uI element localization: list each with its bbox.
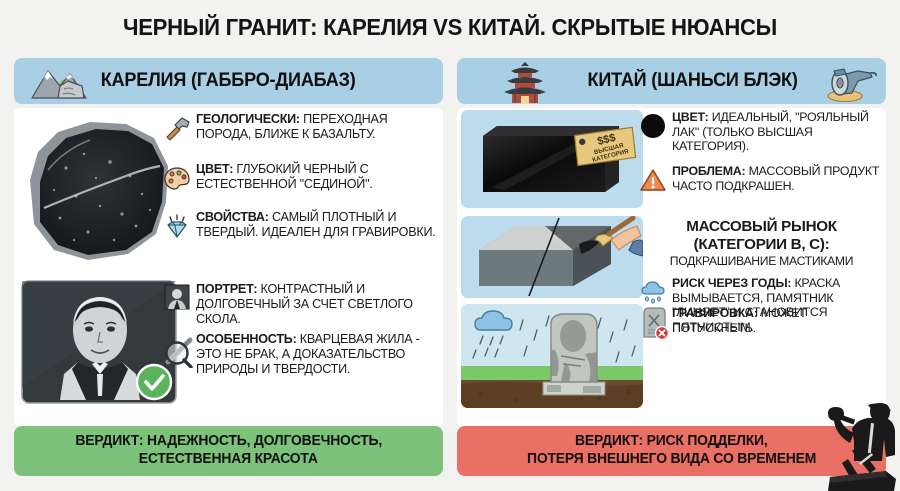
magnifier-icon <box>162 334 196 368</box>
china-verdict-line2: ПОТЕРЯ ВНЕШНЕГО ВИДА СО ВРЕМЕНЕМ <box>527 451 816 469</box>
karelia-item-properties: СВОЙСТВА: САМЫЙ ПЛОТНЫЙ И ТВЕРДЫЙ. ИДЕАЛ… <box>196 210 442 240</box>
page-title: ЧЕРНЫЙ ГРАНИТ: КАРЕЛИЯ VS КИТАЙ. СКРЫТЫЕ… <box>27 14 873 41</box>
diamond-icon <box>162 212 192 242</box>
china-content: $$$ ВЫСШАЯ КАТЕГОРИЯ ЦВЕТ: ИДЕАЛЬНЫЙ, "Р… <box>457 108 886 426</box>
pagoda-icon <box>499 60 551 104</box>
weathered-monument-photo <box>461 304 643 408</box>
china-mass-market: МАССОВЫЙ РЫНОК (КАТЕГОРИИ B, C): ПОДКРАШ… <box>637 218 886 269</box>
granite-rock-sample-photo <box>18 110 178 275</box>
karelia-item-geology: ГЕОЛОГИЧЕСКИ: ПЕРЕХОДНАЯ ПОРОДА, БЛИЖЕ К… <box>196 112 442 142</box>
china-item-color-label: ЦВЕТ: <box>672 110 709 124</box>
infographic-page: ЧЕРНЫЙ ГРАНИТ: КАРЕЛИЯ VS КИТАЙ. СКРЫТЫЕ… <box>0 0 900 491</box>
karelia-verdict: ВЕРДИКТ: НАДЕЖНОСТЬ, ДОЛГОВЕЧНОСТЬ, ЕСТЕ… <box>14 426 443 476</box>
karelia-item-properties-label: СВОЙСТВА: <box>196 210 269 224</box>
karelia-header-title: КАРЕЛИЯ (ГАББРО-ДИАБАЗ) <box>101 70 356 92</box>
karelia-content: ГЕОЛОГИЧЕСКИ: ПЕРЕХОДНАЯ ПОРОДА, БЛИЖЕ К… <box>14 108 443 426</box>
karelia-item-geology-label: ГЕОЛОГИЧЕСКИ: <box>196 112 300 126</box>
engraved-portrait-photo <box>18 278 180 406</box>
china-header: КИТАЙ (ШАНЬСИ БЛЭК) <box>457 58 886 104</box>
china-header-title: КИТАЙ (ШАНЬСИ БЛЭК) <box>587 70 797 92</box>
mass-market-sub: ПОДКРАШИВАНИЕ МАСТИКАМИ <box>637 254 886 269</box>
karelia-verdict-line2: ЕСТЕСТВЕННАЯ КРАСОТА <box>139 451 318 469</box>
palette-icon <box>162 164 192 194</box>
rain-cloud-icon <box>639 278 667 306</box>
mass-market-line2: (КАТЕГОРИИ B, C): <box>637 236 886 254</box>
black-polished-slab-photo: $$$ ВЫСШАЯ КАТЕГОРИЯ <box>461 110 643 208</box>
karelia-item-portrait-label: ПОРТРЕТ: <box>196 282 257 296</box>
engraving-cross-icon <box>639 306 669 340</box>
karelia-item-color-label: ЦВЕТ: <box>196 162 233 176</box>
china-item-problem: ПРОБЛЕМА: МАССОВЫЙ ПРОДУКТ ЧАСТО ПОДКРАШ… <box>672 164 884 193</box>
karelia-verdict-line1: ВЕРДИКТ: НАДЕЖНОСТЬ, ДОЛГОВЕЧНОСТЬ, <box>75 433 382 451</box>
painting-slab-photo <box>461 216 643 298</box>
stonemason-icon <box>824 399 898 491</box>
hammer-icon <box>162 114 192 144</box>
black-circle-icon <box>639 112 667 140</box>
china-item-color: ЦВЕТ: ИДЕАЛЬНЫЙ, "РОЯЛЬНЫЙ ЛАК" (ТОЛЬКО … <box>672 110 884 154</box>
warning-triangle-icon <box>639 166 667 194</box>
china-item-engraving-label: ГРАВИРОВКА: <box>672 306 758 320</box>
karelia-item-feature: ОСОБЕННОСТЬ: КВАРЦЕВАЯ ЖИЛА - ЭТО НЕ БРА… <box>196 332 442 377</box>
karelia-item-feature-label: ОСОБЕННОСТЬ: <box>196 332 297 346</box>
portrait-icon <box>164 284 190 310</box>
mass-market-line1: МАССОВЫЙ РЫНОК <box>637 218 886 236</box>
china-item-problem-label: ПРОБЛЕМА: <box>672 164 745 178</box>
china-verdict: ВЕРДИКТ: РИСК ПОДДЕЛКИ, ПОТЕРЯ ВНЕШНЕГО … <box>457 426 886 476</box>
china-item-risk-label: РИСК ЧЕРЕЗ ГОДЫ: <box>672 276 791 290</box>
column-china: КИТАЙ (ШАНЬСИ БЛЭК) <box>457 58 886 476</box>
karelia-header: КАРЕЛИЯ (ГАББРО-ДИАБАЗ) <box>14 58 443 104</box>
karelia-item-color: ЦВЕТ: ГЛУБОКИЙ ЧЕРНЫЙ С ЕСТЕСТВЕННОЙ "СЕ… <box>196 162 442 192</box>
angle-grinder-icon <box>822 61 878 103</box>
mountain-icon <box>30 62 90 100</box>
karelia-item-portrait: ПОРТРЕТ: КОНТРАСТНЫЙ И ДОЛГОВЕЧНЫЙ ЗА СЧ… <box>196 282 442 327</box>
china-verdict-line1: ВЕРДИКТ: РИСК ПОДДЕЛКИ, <box>575 433 768 451</box>
china-item-engraving: ГРАВИРОВКА: МОЖЕТ ПОТУСКНЕТЬ. <box>672 306 884 335</box>
column-karelia: КАРЕЛИЯ (ГАББРО-ДИАБАЗ) <box>14 58 443 476</box>
